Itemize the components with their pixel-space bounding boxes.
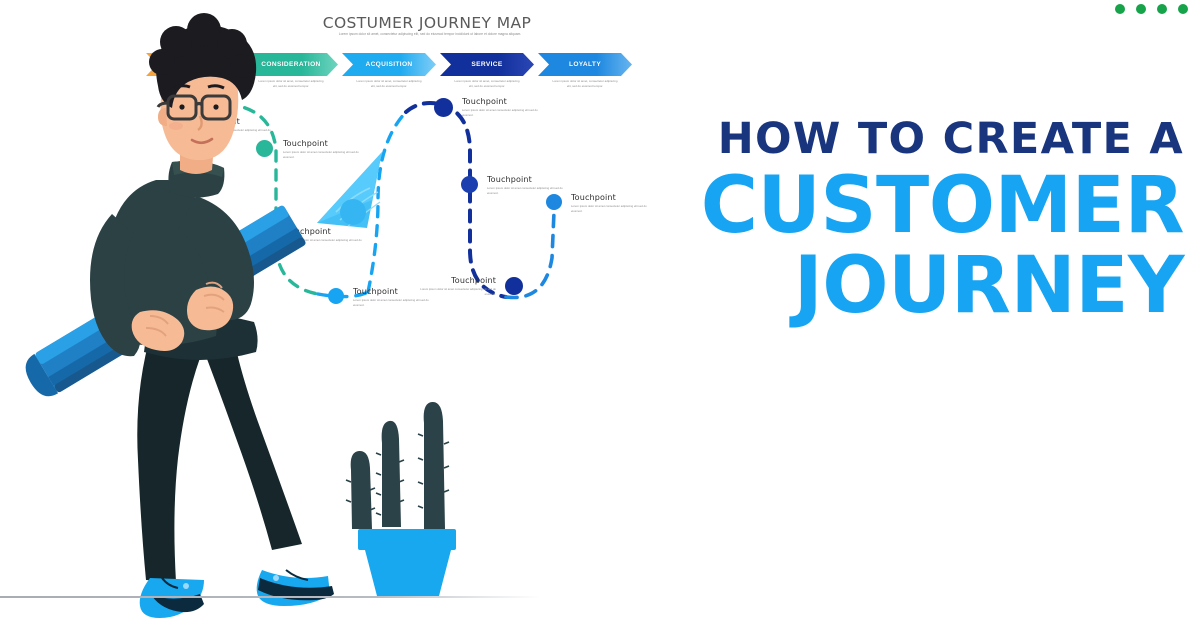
cactus-plant bbox=[346, 402, 456, 596]
leg-left bbox=[137, 330, 200, 582]
pot-body bbox=[365, 550, 451, 596]
customer-journey-map-infographic: COSTUMER JOURNEY MAP Lorem ipsum dolor s… bbox=[0, 0, 660, 630]
shoe-right bbox=[257, 570, 334, 606]
eye-right bbox=[213, 104, 218, 109]
headline-line-1: HOW TO CREATE A bbox=[660, 118, 1184, 161]
poster-canvas: COSTUMER JOURNEY MAP Lorem ipsum dolor s… bbox=[0, 0, 1200, 630]
green-dot bbox=[1115, 4, 1125, 14]
green-dots-decoration bbox=[1115, 4, 1188, 14]
shoe-left bbox=[140, 578, 204, 618]
green-dot bbox=[1178, 4, 1188, 14]
illustration-man-with-pencil bbox=[0, 0, 660, 630]
green-dot bbox=[1157, 4, 1167, 14]
headline-line-2: CUSTOMER bbox=[660, 167, 1184, 245]
poster-headline: HOW TO CREATE A CUSTOMER JOURNEY bbox=[660, 118, 1184, 325]
leg-right bbox=[196, 328, 302, 550]
green-dot bbox=[1136, 4, 1146, 14]
ground-line bbox=[0, 596, 540, 598]
headline-line-3: JOURNEY bbox=[660, 247, 1184, 325]
pot-rim bbox=[358, 529, 456, 550]
eye-left bbox=[179, 104, 184, 109]
